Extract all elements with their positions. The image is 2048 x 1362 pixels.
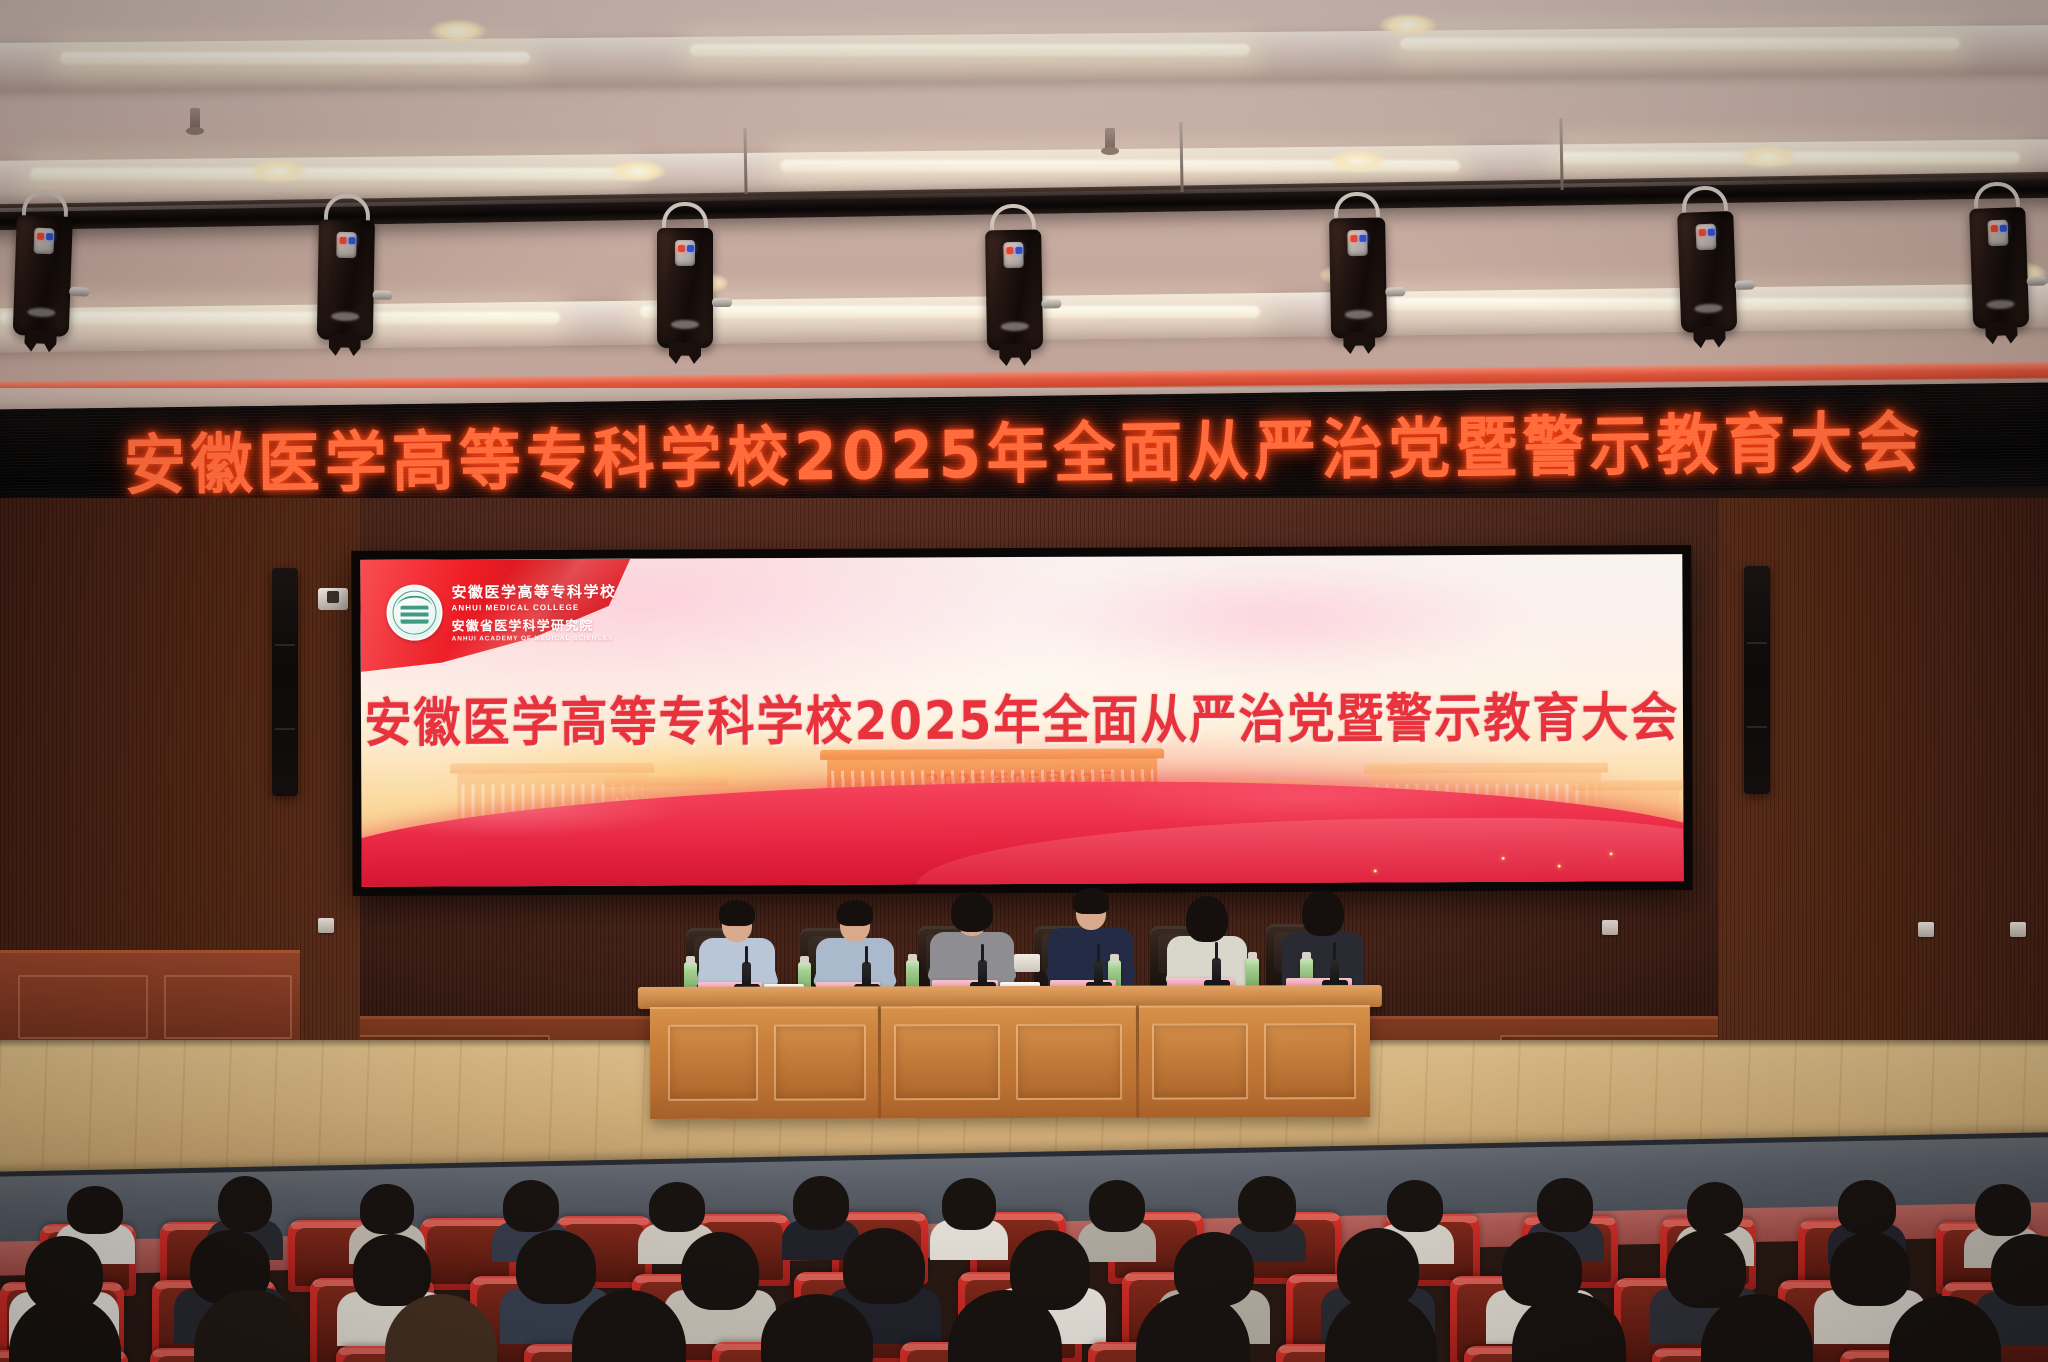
microphone: [1330, 958, 1339, 984]
sprinkler-icon: [190, 108, 200, 130]
audience-person: [950, 1290, 1060, 1362]
downlight-icon: [250, 160, 306, 182]
chair-headrest-plate: [1014, 954, 1040, 972]
column-speaker: [272, 568, 298, 796]
camera-icon: [318, 588, 348, 610]
microphone: [978, 960, 987, 986]
downlight-icon: [1740, 146, 1796, 168]
stage-light-fixture: [1960, 203, 2039, 355]
audience-person: [1138, 1292, 1248, 1362]
led-banner-text: 安徽医学高等专科学校2025年全面从严治党暨警示教育大会: [123, 389, 1925, 508]
audience-person: [790, 1176, 852, 1256]
logo-en-line-2: ANHUI ACADEMY OF MEDICAL SCIENCES: [452, 635, 617, 643]
logo-cn-line-1: 安徽医学高等专科学校: [451, 581, 616, 603]
ceiling-light-slot: [60, 52, 530, 64]
column-speaker: [1744, 566, 1770, 794]
audience-person: [1702, 1294, 1812, 1362]
audience-person: [1514, 1292, 1624, 1362]
audience-person: [196, 1290, 306, 1362]
stage-light-fixture: [307, 215, 384, 366]
audience-person: [1890, 1296, 2000, 1362]
audience-person: [680, 1232, 760, 1336]
school-logo: 安徽医学高等专科学校 ANHUI MEDICAL COLLEGE 安徽省医学科学…: [386, 581, 616, 643]
auditorium-photo: 安徽医学高等专科学校2025年全面从严治党暨警示教育大会: [0, 0, 2048, 1362]
stage-light-fixture: [976, 225, 1053, 376]
downlight-icon: [1380, 14, 1436, 36]
microphone: [862, 962, 871, 988]
ceiling-light-slot: [1400, 38, 1960, 50]
logo-cn-line-2: 安徽省医学科学研究院: [452, 615, 617, 635]
stage-light-fixture: [1668, 207, 1747, 359]
audience-person: [574, 1290, 684, 1362]
audience-person: [762, 1294, 872, 1362]
audience-person: [1086, 1180, 1148, 1258]
wall-outlet-icon: [1602, 920, 1618, 935]
audience-person: [1326, 1294, 1436, 1362]
microphone: [742, 962, 751, 988]
audience-seating: [0, 1150, 2048, 1362]
audience-person: [386, 1294, 496, 1362]
school-emblem-icon: [386, 584, 442, 640]
head-table: [650, 985, 1370, 1119]
stage-led-screen: 安徽医学高等专科学校 ANHUI MEDICAL COLLEGE 安徽省医学科学…: [351, 545, 1692, 896]
wall-outlet-icon: [2010, 922, 2026, 937]
downlight-icon: [430, 20, 486, 42]
downlight-icon: [610, 160, 666, 182]
audience-person: [10, 1296, 120, 1362]
stage-light-fixture: [648, 224, 722, 374]
wall-outlet-icon: [318, 918, 334, 933]
ceiling-light-slot: [30, 168, 630, 180]
ceiling-light-slot: [690, 44, 1250, 56]
logo-en-line-1: ANHUI MEDICAL COLLEGE: [451, 603, 616, 613]
stage-light-fixture: [3, 211, 82, 363]
downlight-icon: [1330, 150, 1386, 172]
stage-light-fixture: [1320, 213, 1397, 364]
wall-outlet-icon: [1918, 922, 1934, 937]
audience-person: [938, 1178, 1000, 1256]
sprinkler-icon: [1105, 128, 1115, 150]
microphone: [1212, 958, 1221, 984]
microphone: [1094, 960, 1103, 986]
